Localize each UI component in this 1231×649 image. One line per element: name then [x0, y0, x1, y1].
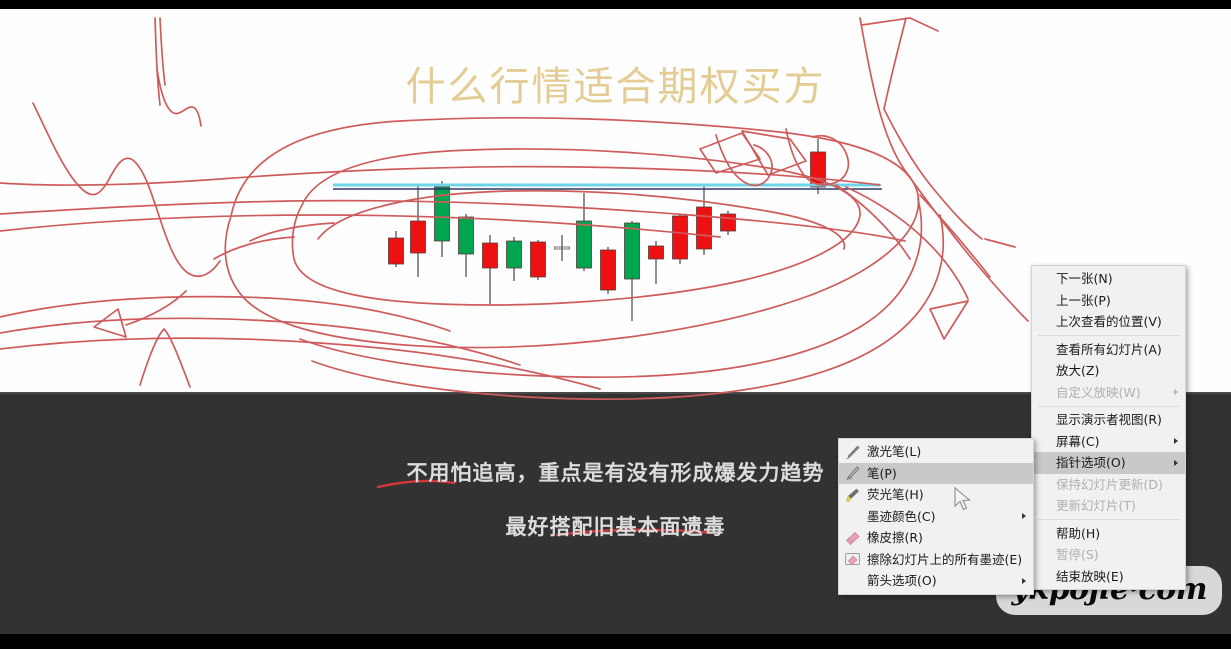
menu-item-8[interactable]: 显示演示者视图(R) — [1032, 409, 1185, 431]
menu-item-label: 指针选项(O) — [1056, 455, 1126, 470]
menu-item-label: 箭头选项(O) — [867, 573, 937, 588]
candle-body — [483, 243, 498, 268]
pointer-options-submenu[interactable]: 激光笔(L)笔(P)荧光笔(H)墨迹颜色(C)橡皮擦(R)擦除幻灯片上的所有墨迹… — [838, 438, 1034, 595]
menu-item-label: 橡皮擦(R) — [867, 530, 923, 545]
eraser-icon — [844, 529, 861, 546]
submenu-chevron-icon — [1174, 389, 1178, 395]
pen-icon — [844, 465, 861, 482]
menu-item-label: 结束放映(E) — [1056, 569, 1124, 584]
submenu-chevron-icon — [1174, 460, 1178, 466]
menu-item-1[interactable]: 笔(P) — [839, 463, 1033, 485]
candle-body — [601, 250, 616, 290]
menu-item-label: 笔(P) — [867, 466, 897, 481]
menu-item-3[interactable]: 墨迹颜色(C) — [839, 506, 1033, 528]
candle-body — [649, 246, 664, 259]
menu-item-14[interactable]: 帮助(H) — [1032, 523, 1185, 545]
candle-body — [811, 152, 826, 187]
candle-body — [625, 223, 640, 279]
candle-body — [697, 207, 712, 249]
menu-item-label: 帮助(H) — [1056, 526, 1100, 541]
menu-item-label: 暂停(S) — [1056, 547, 1099, 562]
menu-item-label: 自定义放映(W) — [1056, 385, 1141, 400]
candle-body — [577, 221, 592, 268]
menu-item-5[interactable]: 放大(Z) — [1032, 360, 1185, 382]
menu-item-1[interactable]: 上一张(P) — [1032, 290, 1185, 312]
menu-item-4[interactable]: 查看所有幻灯片(A) — [1032, 339, 1185, 361]
slideshow-context-menu[interactable]: 下一张(N)上一张(P)上次查看的位置(V)查看所有幻灯片(A)放大(Z)自定义… — [1031, 265, 1186, 590]
menu-item-0[interactable]: 下一张(N) — [1032, 268, 1185, 290]
menu-item-label: 上一张(P) — [1056, 293, 1111, 308]
menu-item-9[interactable]: 屏幕(C) — [1032, 431, 1185, 453]
menu-item-label: 擦除幻灯片上的所有墨迹(E) — [867, 552, 1022, 567]
candle-body — [507, 241, 522, 268]
candle-body — [721, 214, 736, 231]
menu-item-label: 保持幻灯片更新(D) — [1056, 477, 1163, 492]
menu-item-label: 激光笔(L) — [867, 444, 921, 459]
candle-body — [435, 187, 450, 241]
menu-separator — [1038, 406, 1179, 407]
menu-item-label: 查看所有幻灯片(A) — [1056, 342, 1162, 357]
submenu-chevron-icon — [1022, 513, 1026, 519]
menu-separator — [1038, 335, 1179, 336]
submenu-chevron-icon — [1174, 438, 1178, 444]
screen: 什么行情适合期权买方 — [0, 0, 1231, 649]
highlighter-icon — [844, 486, 861, 503]
menu-item-label: 荧光笔(H) — [867, 487, 924, 502]
menu-item-11: 保持幻灯片更新(D) — [1032, 474, 1185, 496]
menu-item-5[interactable]: 擦除幻灯片上的所有墨迹(E) — [839, 549, 1033, 571]
menu-item-16[interactable]: 结束放映(E) — [1032, 566, 1185, 588]
menu-item-label: 更新幻灯片(T) — [1056, 498, 1136, 513]
menu-item-label: 下一张(N) — [1056, 271, 1113, 286]
menu-item-6: 自定义放映(W) — [1032, 382, 1185, 404]
menu-item-15: 暂停(S) — [1032, 544, 1185, 566]
candle-body — [459, 217, 474, 254]
menu-item-12: 更新幻灯片(T) — [1032, 495, 1185, 517]
candle-body — [411, 221, 426, 253]
menu-item-4[interactable]: 橡皮擦(R) — [839, 527, 1033, 549]
menu-item-label: 屏幕(C) — [1056, 434, 1099, 449]
slideshow-canvas[interactable]: 什么行情适合期权买方 — [0, 9, 1231, 634]
menu-item-2[interactable]: 上次查看的位置(V) — [1032, 311, 1185, 333]
menu-item-label: 放大(Z) — [1056, 363, 1099, 378]
mouse-cursor-icon — [953, 487, 973, 513]
laser-pointer-icon — [844, 443, 861, 460]
menu-item-label: 墨迹颜色(C) — [867, 509, 935, 524]
candle-body — [389, 238, 404, 264]
menu-separator — [1038, 519, 1179, 520]
submenu-chevron-icon — [1022, 578, 1026, 584]
menu-item-6[interactable]: 箭头选项(O) — [839, 570, 1033, 592]
menu-item-10[interactable]: 指针选项(O) — [1032, 452, 1185, 474]
menu-item-0[interactable]: 激光笔(L) — [839, 441, 1033, 463]
candle-body — [673, 216, 688, 259]
candle-body — [531, 242, 546, 277]
menu-item-label: 上次查看的位置(V) — [1056, 314, 1162, 329]
menu-item-2[interactable]: 荧光笔(H) — [839, 484, 1033, 506]
erase-all-ink-icon — [844, 551, 861, 568]
menu-item-label: 显示演示者视图(R) — [1056, 412, 1162, 427]
